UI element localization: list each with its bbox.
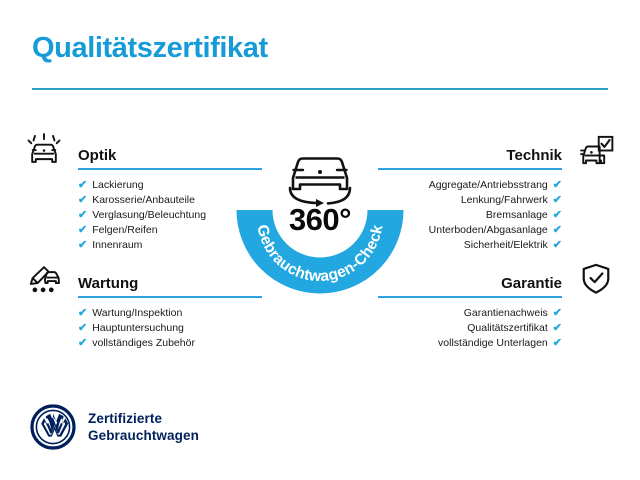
check-icon: ✔ xyxy=(78,180,87,191)
footer-line-1: Zertifizierte xyxy=(88,410,199,427)
list-item-label: vollständige Unterlagen xyxy=(438,338,548,349)
check-icon: ✔ xyxy=(78,323,87,334)
check-list-technik: Aggregate/Antriebsstrang ✔ Lenkung/Fahrw… xyxy=(378,178,618,253)
list-item-label: Sicherheit/Elektrik xyxy=(464,240,548,251)
list-item: Garantienachweis ✔ xyxy=(378,306,562,321)
section-technik: Technik Aggregate/Antriebsstrang ✔ Lenku… xyxy=(378,128,618,253)
check-list-wartung: ✔ Wartung/Inspektion ✔ Hauptuntersuchung… xyxy=(22,306,262,351)
car-checkbox-icon xyxy=(574,130,618,170)
section-garantie: Garantie Garantienachweis ✔ Qualitätszer… xyxy=(378,256,618,351)
footer-line-2: Gebrauchtwagen xyxy=(88,427,199,444)
list-item-label: Lenkung/Fahrwerk xyxy=(461,195,548,206)
volkswagen-logo xyxy=(30,404,76,450)
section-wartung: Wartung ✔ Wartung/Inspektion ✔ Hauptunte… xyxy=(22,256,262,351)
badge-360-gebrauchtwagen-check: Gebrauchtwagen-Check 360° xyxy=(232,120,408,296)
list-item-label: Unterboden/Abgasanlage xyxy=(429,225,548,236)
list-item: ✔ Wartung/Inspektion xyxy=(78,306,262,321)
list-item-label: Verglasung/Beleuchtung xyxy=(92,210,206,221)
list-item: ✔ Hauptuntersuchung xyxy=(78,321,262,336)
title-divider xyxy=(32,88,608,90)
car-shine-icon xyxy=(22,130,66,170)
pen-car-service-icon xyxy=(22,258,66,298)
check-icon: ✔ xyxy=(78,225,87,236)
check-icon: ✔ xyxy=(78,308,87,319)
check-list-garantie: Garantienachweis ✔ Qualitätszertifikat ✔… xyxy=(378,306,618,351)
check-list-optik: ✔ Lackierung ✔ Karosserie/Anbauteile ✔ V… xyxy=(22,178,262,253)
page-title: Qualitätszertifikat xyxy=(32,34,268,63)
check-icon: ✔ xyxy=(553,338,562,349)
list-item-label: Felgen/Reifen xyxy=(92,225,157,236)
list-item-label: Garantienachweis xyxy=(464,308,548,319)
list-item-label: Bremsanlage xyxy=(486,210,548,221)
footer-text: Zertifizierte Gebrauchtwagen xyxy=(88,410,199,445)
footer-branding: Zertifizierte Gebrauchtwagen xyxy=(30,404,199,450)
list-item: ✔ vollständiges Zubehör xyxy=(78,336,262,351)
check-icon: ✔ xyxy=(78,195,87,206)
list-item-label: Aggregate/Antriebsstrang xyxy=(429,180,548,191)
check-icon: ✔ xyxy=(78,338,87,349)
list-item-label: vollständiges Zubehör xyxy=(92,338,195,349)
list-item-label: Qualitätszertifikat xyxy=(467,323,548,334)
shield-check-icon xyxy=(574,258,618,298)
list-item-label: Hauptuntersuchung xyxy=(92,323,184,334)
check-icon: ✔ xyxy=(553,240,562,251)
check-icon: ✔ xyxy=(78,210,87,221)
check-icon: ✔ xyxy=(553,308,562,319)
list-item-label: Wartung/Inspektion xyxy=(92,308,182,319)
check-icon: ✔ xyxy=(553,210,562,221)
check-icon: ✔ xyxy=(553,195,562,206)
section-underline xyxy=(78,296,262,298)
section-underline xyxy=(378,296,562,298)
check-icon: ✔ xyxy=(553,323,562,334)
list-item: Qualitätszertifikat ✔ xyxy=(378,321,562,336)
list-item-label: Innenraum xyxy=(92,240,142,251)
check-icon: ✔ xyxy=(553,180,562,191)
section-optik: Optik ✔ Lackierung ✔ Karosserie/Anbautei… xyxy=(22,128,262,253)
list-item-label: Lackierung xyxy=(92,180,143,191)
check-icon: ✔ xyxy=(553,225,562,236)
check-icon: ✔ xyxy=(78,240,87,251)
list-item-label: Karosserie/Anbauteile xyxy=(92,195,195,206)
list-item: vollständige Unterlagen ✔ xyxy=(378,336,562,351)
